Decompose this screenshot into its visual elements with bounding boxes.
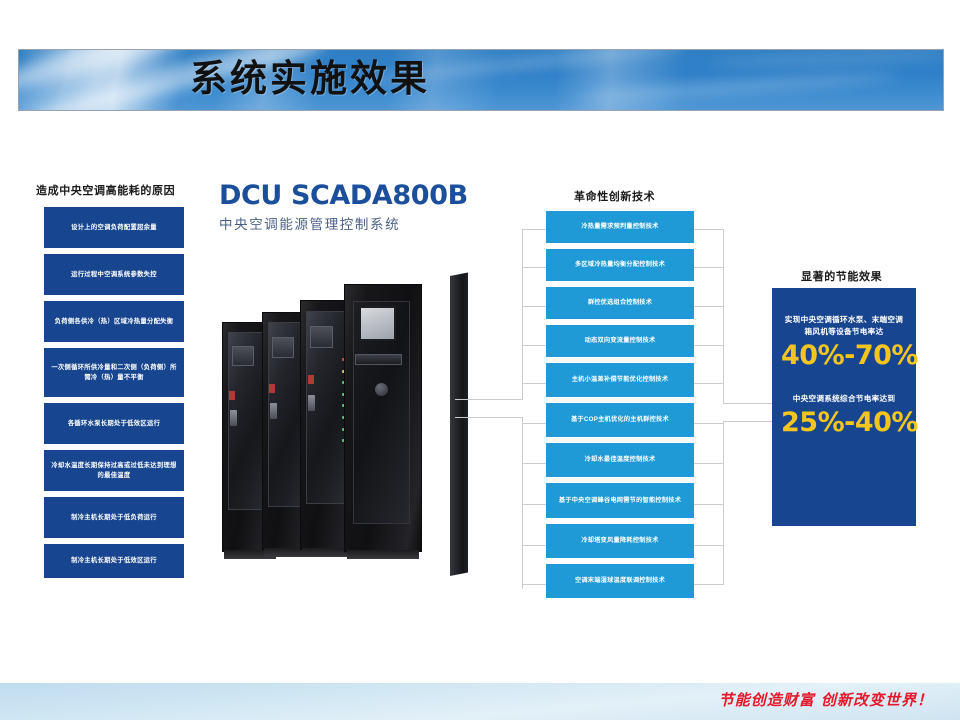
cabinet-handle [270,403,277,419]
technology-item[interactable]: 群控优选组合控制技术 [546,287,694,319]
connector-stub [522,463,546,464]
cause-item[interactable]: 制冷主机长期处于低负荷运行 [44,497,184,538]
technology-item-label: 冷却塔变风量降耗控制技术 [581,536,658,546]
slide-canvas: 系统实施效果 造成中央空调高能耗的原因 设计上的空调负荷配置超余量 运行过程中空… [0,0,960,720]
savings-figure: 40%-70% [781,340,907,371]
connector-spine [522,229,523,399]
cause-item-label: 负荷侧各供冷（热）区域冷热量分配失衡 [55,317,174,327]
cabinet-display-screen [359,306,395,341]
product-name: DCU SCADA800B [219,180,468,211]
cabinet-handle [308,395,315,411]
connector-stub [694,423,723,424]
cause-item[interactable]: 冷却水温度长期保持过高或过低未达到理想的最佳温度 [44,450,184,491]
connector-stub [694,345,723,346]
cause-item[interactable]: 一次侧循环所供冷量和二次侧（负荷侧）所需冷（热）量不平衡 [44,348,184,397]
savings-result-panel: 实现中央空调循环水泵、末端空调箱风机等设备节电率达 40%-70% 中央空调系统… [772,288,916,526]
technology-list: 冷热量需求预判量控制技术 多区域冷热量均衡分配控制技术 群控优选组合控制技术 动… [546,211,694,604]
connector-line [723,421,772,422]
connector-stub [694,545,723,546]
connector-line [455,399,523,400]
cause-item-label: 运行过程中空调系统参数失控 [71,270,157,280]
technology-item[interactable]: 基于中央空调峰谷电网需节的智能控制技术 [546,483,694,518]
cabinet-panel [272,337,295,358]
product-title-block: DCU SCADA800B 中央空调能源管理控制系统 [219,180,468,233]
right-panel-header: 显著的节能效果 [801,268,882,284]
technology-item[interactable]: 冷却水最佳温度控制技术 [546,443,694,477]
connector-stub [694,383,723,384]
cause-item-label: 设计上的空调负荷配置超余量 [71,223,157,233]
technology-item[interactable]: 冷热量需求预判量控制技术 [546,211,694,243]
cabinet-panel [310,326,334,348]
footer-slogan: 节能创造财富 创新改变世界！ [719,689,933,710]
connector-stub [522,267,546,268]
connector-stub [694,267,723,268]
spacer [781,371,907,393]
savings-lead-text: 中央空调系统综合节电率达到 [781,393,907,405]
cause-item-label: 制冷主机长期处于低负荷运行 [71,513,157,523]
technology-item-label: 基于中央空调峰谷电网需节的智能控制技术 [559,496,681,506]
technology-item-label: 冷却水最佳温度控制技术 [585,455,656,465]
connector-stub [522,383,546,384]
technology-item[interactable]: 冷却塔变风量降耗控制技术 [546,524,694,558]
cabinet-marker [229,391,235,400]
connector-stub [694,584,723,585]
equipment-illustration [222,262,452,582]
connector-stub [694,463,723,464]
cabinet-vent-slot [355,354,402,365]
technology-item[interactable]: 多区域冷热量均衡分配控制技术 [546,249,694,281]
connector-stub [522,345,546,346]
product-subtitle: 中央空调能源管理控制系统 [219,213,468,233]
cause-list: 设计上的空调负荷配置超余量 运行过程中空调系统参数失控 负荷侧各供冷（热）区域冷… [44,207,184,584]
technology-item-label: 多区域冷热量均衡分配控制技术 [575,260,665,270]
cause-item-label: 冷却水温度长期保持过高或过低未达到理想的最佳温度 [51,461,177,481]
connector-stub [522,423,546,424]
technology-item[interactable]: 主机小温差补偿节能优化控制技术 [546,363,694,397]
connector-line [723,403,772,404]
connector-stub [522,584,546,585]
connector-stub [694,229,723,230]
connector-stub [522,229,546,230]
cause-item-label: 制冷主机长期处于低效区运行 [71,556,157,566]
connector-spine [723,421,724,585]
left-column-header: 造成中央空调高能耗的原因 [36,182,175,198]
cabinet-marker [308,375,314,384]
connector-stub [694,306,723,307]
technology-item[interactable]: 动态双向变流量控制技术 [546,325,694,357]
cause-item[interactable]: 运行过程中空调系统参数失控 [44,254,184,295]
technology-item-label: 空调末端湿球温度联调控制技术 [575,576,665,586]
technology-item-label: 动态双向变流量控制技术 [585,336,656,346]
cabinet-side-face [450,273,468,576]
control-cabinet-main [344,284,422,552]
cause-item-label: 各循环水泵长期处于低效区运行 [68,419,160,429]
savings-lead-text: 实现中央空调循环水泵、末端空调箱风机等设备节电率达 [781,314,907,338]
technology-item-label: 主机小温差补偿节能优化控制技术 [572,375,669,385]
cause-item[interactable]: 各循环水泵长期处于低效区运行 [44,403,184,444]
cabinet-panel [232,346,255,367]
connector-spine [723,229,724,403]
technology-item[interactable]: 基于COP主机优化的主机群控技术 [546,403,694,437]
cabinet-handle [230,410,237,426]
middle-column-header: 革命性创新技术 [574,188,655,204]
cause-item-label: 一次侧循环所供冷量和二次侧（负荷侧）所需冷（热）量不平衡 [51,363,177,383]
cause-item[interactable]: 设计上的空调负荷配置超余量 [44,207,184,248]
technology-item-label: 冷热量需求预判量控制技术 [581,222,658,232]
page-title: 系统实施效果 [190,50,620,108]
savings-figure: 25%-40% [781,407,907,438]
cabinet-base [347,550,420,559]
connector-stub [694,504,723,505]
connector-line [455,417,523,418]
technology-item-label: 群控优选组合控制技术 [588,298,652,308]
technology-item[interactable]: 空调末端湿球温度联调控制技术 [546,564,694,598]
connector-spine [522,417,523,589]
cause-item[interactable]: 制冷主机长期处于低效区运行 [44,544,184,578]
technology-item-label: 基于COP主机优化的主机群控技术 [571,415,669,425]
connector-stub [522,504,546,505]
connector-stub [522,545,546,546]
connector-stub [522,306,546,307]
cabinet-marker [269,384,275,393]
cause-item[interactable]: 负荷侧各供冷（热）区域冷热量分配失衡 [44,301,184,342]
